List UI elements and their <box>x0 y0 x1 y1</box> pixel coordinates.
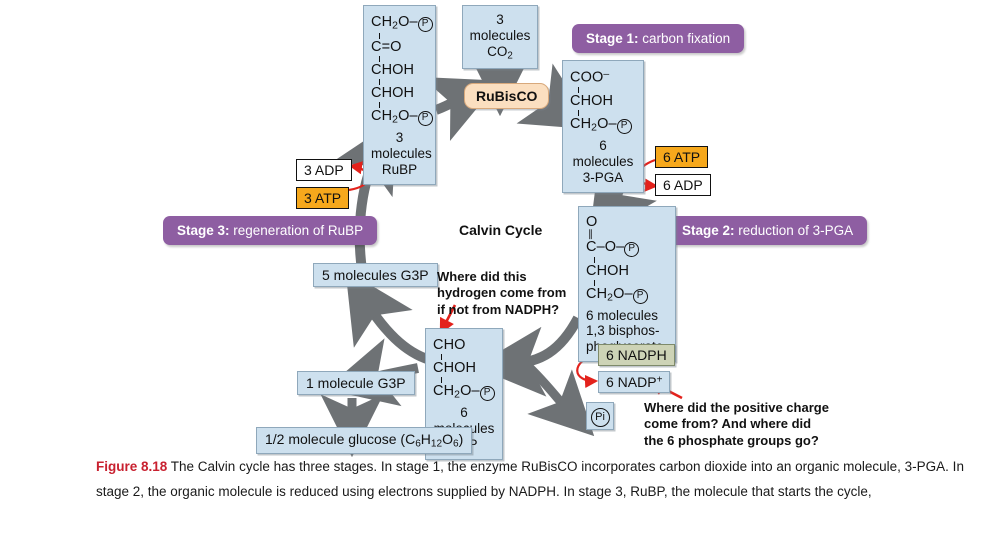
label-five-molecules-g3p: 5 molecules G3P <box>313 263 438 287</box>
molecule-box-3pga: COO– CHOH CH2O–P 6 molecules 3-PGA <box>562 60 644 193</box>
co2-count: 3 molecules <box>467 12 533 44</box>
stage-2-banner: Stage 2: reduction of 3-PGA <box>668 216 867 245</box>
bpg-name-line1: 1,3 bisphos- <box>586 323 668 339</box>
enzyme-rubisco[interactable]: RuBisCO <box>464 83 549 109</box>
carrier-adp-6: 6 ADP <box>655 174 711 196</box>
rubp-row-3: CHOH <box>371 62 428 79</box>
carrier-atp-3: 3 ATP <box>296 187 349 209</box>
rubp-row-1: CH2O–P <box>371 14 428 33</box>
cycle-center-title: Calvin Cycle <box>459 222 542 238</box>
calvin-cycle-figure: 3 molecules CO2 RuBisCO Stage 1: carbon … <box>0 0 985 550</box>
pga-structure: COO– CHOH CH2O–P <box>570 69 636 135</box>
molecule-box-rubp: CH2O–P C=O CHOH CHOH CH2O–P 3 molecules … <box>363 5 436 185</box>
bpg-row-1: O <box>586 215 668 230</box>
annotation-positive-charge: Where did the positive charge come from?… <box>644 400 894 449</box>
figure-number: Figure 8.18 <box>96 459 167 474</box>
g3p-structure: CHO CHOH CH2O–P <box>433 337 495 402</box>
carrier-nadp-6: 6 NADP+ <box>598 371 670 393</box>
rubp-row-5: CH2O–P <box>371 108 428 127</box>
g3p-row-3: CH2O–P <box>433 383 495 402</box>
carrier-atp-6: 6 ATP <box>655 146 708 168</box>
pga-count: 6 molecules <box>570 138 636 170</box>
stage-2-desc: reduction of 3-PGA <box>735 223 854 238</box>
stage-3-banner: Stage 3: regeneration of RuBP <box>163 216 377 245</box>
pga-row-3: CH2O–P <box>570 116 636 135</box>
pi-label: Pi <box>591 408 610 427</box>
g3p-row-2: CHOH <box>433 360 495 377</box>
figure-caption-text: The Calvin cycle has three stages. In st… <box>96 459 964 499</box>
bpg-count: 6 molecules <box>586 308 668 324</box>
bpg-row-4: CH2O–P <box>586 286 668 305</box>
stage-1-desc: carbon fixation <box>639 31 731 46</box>
carrier-nadph-6: 6 NADPH <box>598 344 675 366</box>
annotation-hydrogen: Where did this hydrogen come from if not… <box>437 269 587 318</box>
arrow-bpg-to-g3p <box>512 318 578 364</box>
molecule-box-pi: Pi <box>586 402 614 430</box>
label-one-molecule-g3p: 1 molecule G3P <box>297 371 415 395</box>
pga-row-2: CHOH <box>570 93 636 110</box>
stage-3-desc: regeneration of RuBP <box>230 223 364 238</box>
rubp-name: RuBP <box>371 162 428 178</box>
molecule-box-bpg: O ∥ C–O–P CHOH CH2O–P 6 molecules 1,3 bi… <box>578 206 676 362</box>
bpg-structure: O ∥ C–O–P CHOH CH2O–P <box>586 215 668 305</box>
rubp-structure: CH2O–P C=O CHOH CHOH CH2O–P <box>371 14 428 127</box>
arrow-rubp-to-rubisco <box>436 96 465 110</box>
molecule-box-co2: 3 molecules CO2 <box>462 5 538 69</box>
arrow-to-pi <box>528 366 570 412</box>
rubp-count: 3 molecules <box>371 130 428 162</box>
rubp-row-4: CHOH <box>371 85 428 102</box>
pga-name: 3-PGA <box>570 170 636 186</box>
stage-1-banner: Stage 1: carbon fixation <box>572 24 744 53</box>
co2-name: CO2 <box>467 44 533 62</box>
figure-caption: Figure 8.18 The Calvin cycle has three s… <box>96 455 976 505</box>
arrow-g3p-to-regeneration <box>366 302 430 360</box>
bpg-row-3: CHOH <box>586 263 668 280</box>
rubp-row-2: C=O <box>371 39 428 56</box>
label-glucose: 1/2 molecule glucose (C6H12O6) <box>256 427 472 454</box>
stage-2-number: Stage 2: <box>682 223 735 238</box>
stage-1-number: Stage 1: <box>586 31 639 46</box>
pga-row-1: COO– <box>570 69 636 87</box>
g3p-row-1: CHO <box>433 337 495 354</box>
carrier-adp-3: 3 ADP <box>296 159 352 181</box>
bpg-row-2: C–O–P <box>586 239 668 257</box>
stage-3-number: Stage 3: <box>177 223 230 238</box>
